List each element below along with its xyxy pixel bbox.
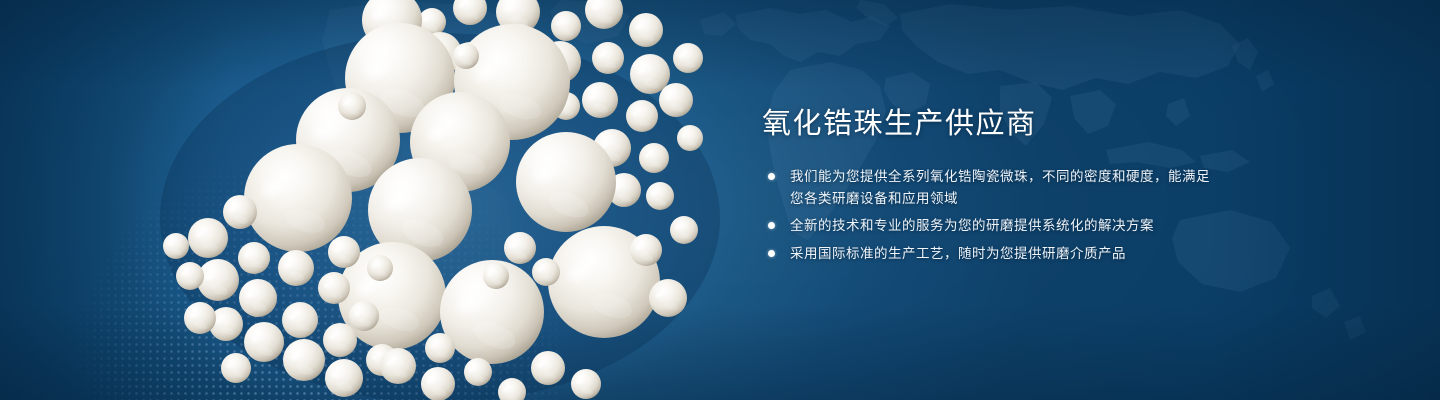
list-item: 我们能为您提供全系列氧化锆陶瓷微珠，不同的密度和硬度，能满足您各类研磨设备和应用… — [762, 166, 1222, 209]
list-item: 全新的技术和专业的服务为您的研磨提供系统化的解决方案 — [762, 215, 1222, 237]
feature-list: 我们能为您提供全系列氧化锆陶瓷微珠，不同的密度和硬度，能满足您各类研磨设备和应用… — [762, 166, 1222, 264]
bullet-dot-icon — [768, 222, 775, 229]
list-item-label: 我们能为您提供全系列氧化锆陶瓷微珠，不同的密度和硬度，能满足您各类研磨设备和应用… — [790, 166, 1222, 209]
banner-copy: 氧化锆珠生产供应商 我们能为您提供全系列氧化锆陶瓷微珠，不同的密度和硬度，能满足… — [762, 104, 1222, 264]
list-item-label: 采用国际标准的生产工艺，随时为您提供研磨介质产品 — [790, 243, 1222, 265]
list-item-label: 全新的技术和专业的服务为您的研磨提供系统化的解决方案 — [790, 215, 1222, 237]
page-title: 氧化锆珠生产供应商 — [762, 104, 1222, 144]
bullet-dot-icon — [768, 250, 775, 257]
hero-banner: 氧化锆珠生产供应商 我们能为您提供全系列氧化锆陶瓷微珠，不同的密度和硬度，能满足… — [0, 0, 1440, 400]
zirconia-beads-image — [0, 0, 1440, 400]
bullet-dot-icon — [768, 173, 775, 180]
list-item: 采用国际标准的生产工艺，随时为您提供研磨介质产品 — [762, 243, 1222, 265]
